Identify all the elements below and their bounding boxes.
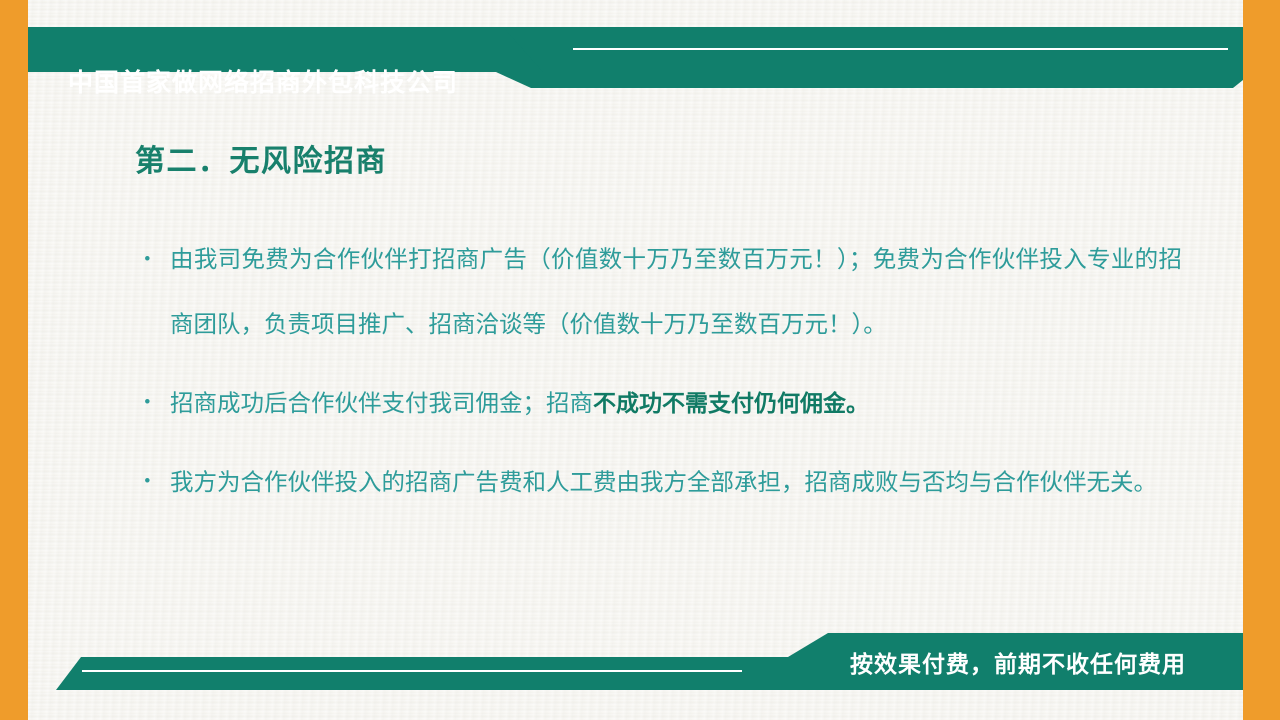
bullet-text: 由我司免费为合作伙伴打招商广告（价值数十万乃至数百万元！）；免费为合作伙伴投入专… <box>170 247 1182 338</box>
bullet-list: 由我司免费为合作伙伴打招商广告（价值数十万乃至数百万元！）；免费为合作伙伴投入专… <box>142 228 1182 529</box>
slide-canvas: 中国首家做网络招商外包科技公司 第二．无风险招商 由我司免费为合作伙伴打招商广告… <box>0 0 1280 720</box>
footer-divider-line <box>82 670 742 672</box>
list-item: 我方为合作伙伴投入的招商广告费和人工费由我方全部承担，招商成败与否均与合作伙伴无… <box>142 450 1182 515</box>
list-item: 招商成功后合作伙伴支付我司佣金；招商不成功不需支付仍何佣金。 <box>142 371 1182 436</box>
bullet-text: 我方为合作伙伴投入的招商广告费和人工费由我方全部承担，招商成败与否均与合作伙伴无… <box>170 470 1157 496</box>
bullet-emphasis: 不成功不需支付仍何佣金。 <box>593 390 869 416</box>
bullet-text: 招商成功后合作伙伴支付我司佣金；招商 <box>170 391 593 417</box>
page-title: 第二．无风险招商 <box>135 136 387 180</box>
footer-tagline: 按效果付费，前期不收任何费用 <box>850 645 1186 679</box>
header-divider-line <box>573 48 1228 50</box>
header-banner: 中国首家做网络招商外包科技公司 <box>28 27 1243 89</box>
header-title: 中国首家做网络招商外包科技公司 <box>68 63 458 99</box>
list-item: 由我司免费为合作伙伴打招商广告（价值数十万乃至数百万元！）；免费为合作伙伴投入专… <box>142 228 1182 357</box>
